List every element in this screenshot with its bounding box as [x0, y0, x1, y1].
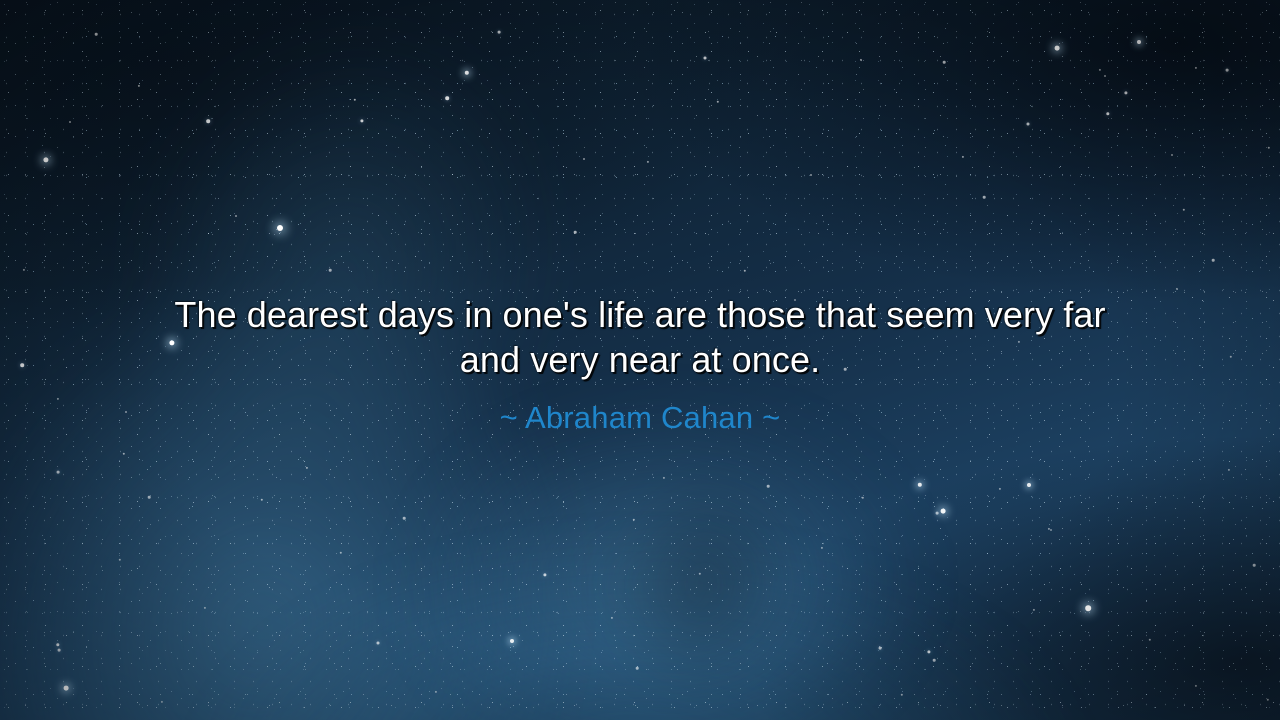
quote-attribution: ~ Abraham Cahan ~ [500, 399, 781, 437]
quote-slide: The dearest days in one's life are those… [0, 0, 1280, 720]
text-layer: The dearest days in one's life are those… [0, 0, 1280, 720]
quote-text: The dearest days in one's life are those… [95, 292, 1185, 382]
